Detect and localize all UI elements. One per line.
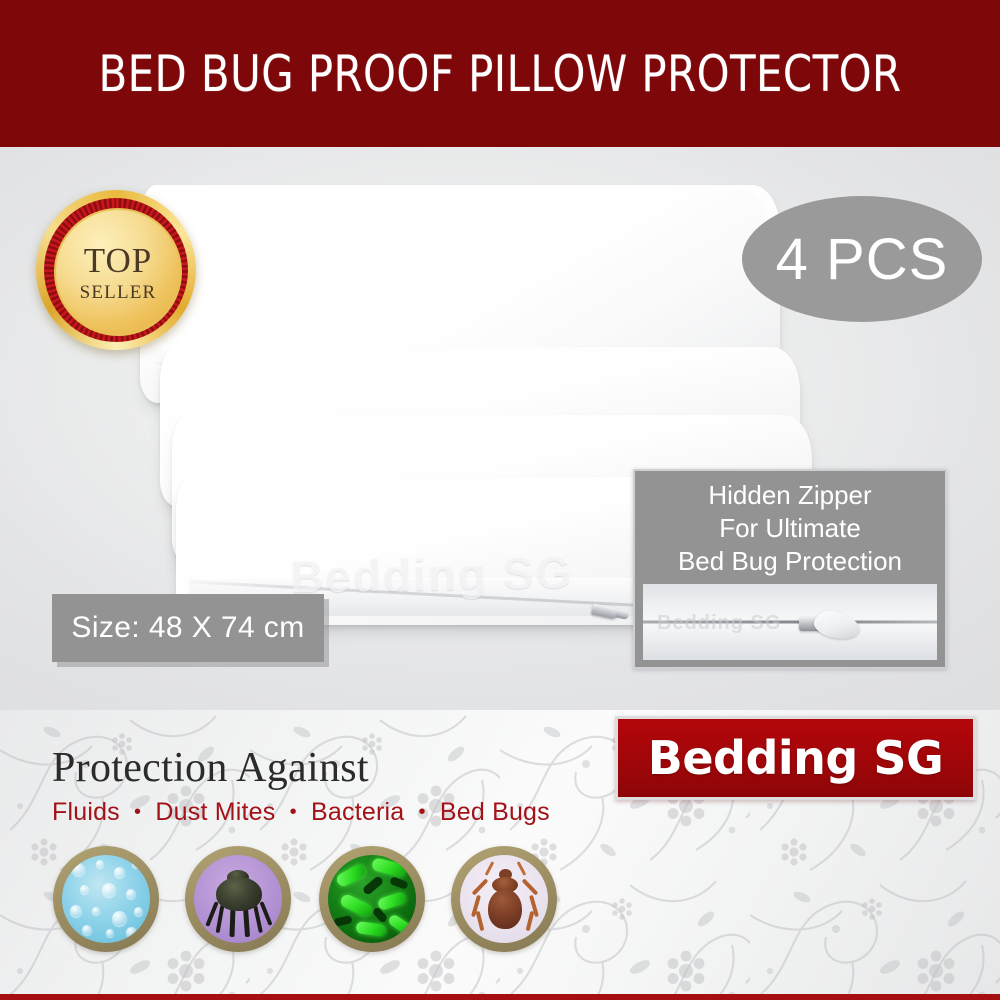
- pillow-face: [146, 189, 767, 350]
- badge-seller-label: SELLER: [80, 283, 157, 302]
- protection-item-fluids: Fluids: [52, 798, 120, 826]
- fluids-icon-art: [62, 855, 150, 943]
- bed-bug-abdomen: [488, 889, 522, 929]
- item-separator: •: [283, 801, 304, 823]
- quantity-badge: 4 PCS: [742, 196, 982, 322]
- brand-logo-text: Bedding SG: [648, 731, 943, 785]
- zipper-closeup-photo: Bedding SG: [643, 584, 937, 660]
- footer-accent-strip: [0, 994, 1000, 1000]
- protection-item-dust-mites: Dust Mites: [155, 798, 275, 826]
- protection-item-bed-bugs: Bed Bugs: [440, 798, 550, 826]
- item-separator: •: [411, 801, 432, 823]
- bacteria-icon-art: [328, 855, 416, 943]
- zipper-panel-line-2: For Ultimate: [635, 512, 945, 545]
- size-label: Size: 48 X 74 cm: [71, 611, 304, 645]
- protection-items: Fluids • Dust Mites • Bacteria • Bed Bug…: [52, 798, 550, 827]
- zipper-panel-line-1: Hidden Zipper: [635, 479, 945, 512]
- top-seller-badge: TOP SELLER: [36, 190, 196, 350]
- dust-mite-body: [216, 877, 262, 911]
- product-banner: BED BUG PROOF PILLOW PROTECTOR: [0, 0, 1000, 1000]
- page-title: BED BUG PROOF PILLOW PROTECTOR: [35, 0, 965, 147]
- protection-item-bacteria: Bacteria: [311, 798, 404, 826]
- protection-icons-row: [53, 846, 573, 956]
- bed-bug-icon: [451, 846, 557, 952]
- zipper-pull-tab-icon: [811, 607, 862, 643]
- header-bar: BED BUG PROOF PILLOW PROTECTOR: [0, 0, 1000, 147]
- fluids-icon: [53, 846, 159, 952]
- zipper-panel-text: Hidden Zipper For Ultimate Bed Bug Prote…: [635, 479, 945, 578]
- zipper-photo-watermark: Bedding SG: [657, 612, 781, 635]
- badge-inner-disc: TOP SELLER: [54, 208, 182, 336]
- quantity-label: 4 PCS: [776, 226, 949, 293]
- zipper-panel-line-3: Bed Bug Protection: [635, 545, 945, 578]
- item-separator: •: [127, 801, 148, 823]
- bacteria-icon: [319, 846, 425, 952]
- protection-title: Protection Against: [52, 744, 369, 792]
- dust-mite-icon-art: [194, 855, 282, 943]
- badge-top-label: TOP: [84, 243, 153, 278]
- hidden-zipper-panel: Hidden Zipper For Ultimate Bed Bug Prote…: [633, 469, 947, 669]
- brand-logo: Bedding SG: [615, 716, 976, 800]
- size-badge: Size: 48 X 74 cm: [52, 594, 324, 662]
- dust-mite-icon: [185, 846, 291, 952]
- bed-bug-icon-art: [460, 855, 548, 943]
